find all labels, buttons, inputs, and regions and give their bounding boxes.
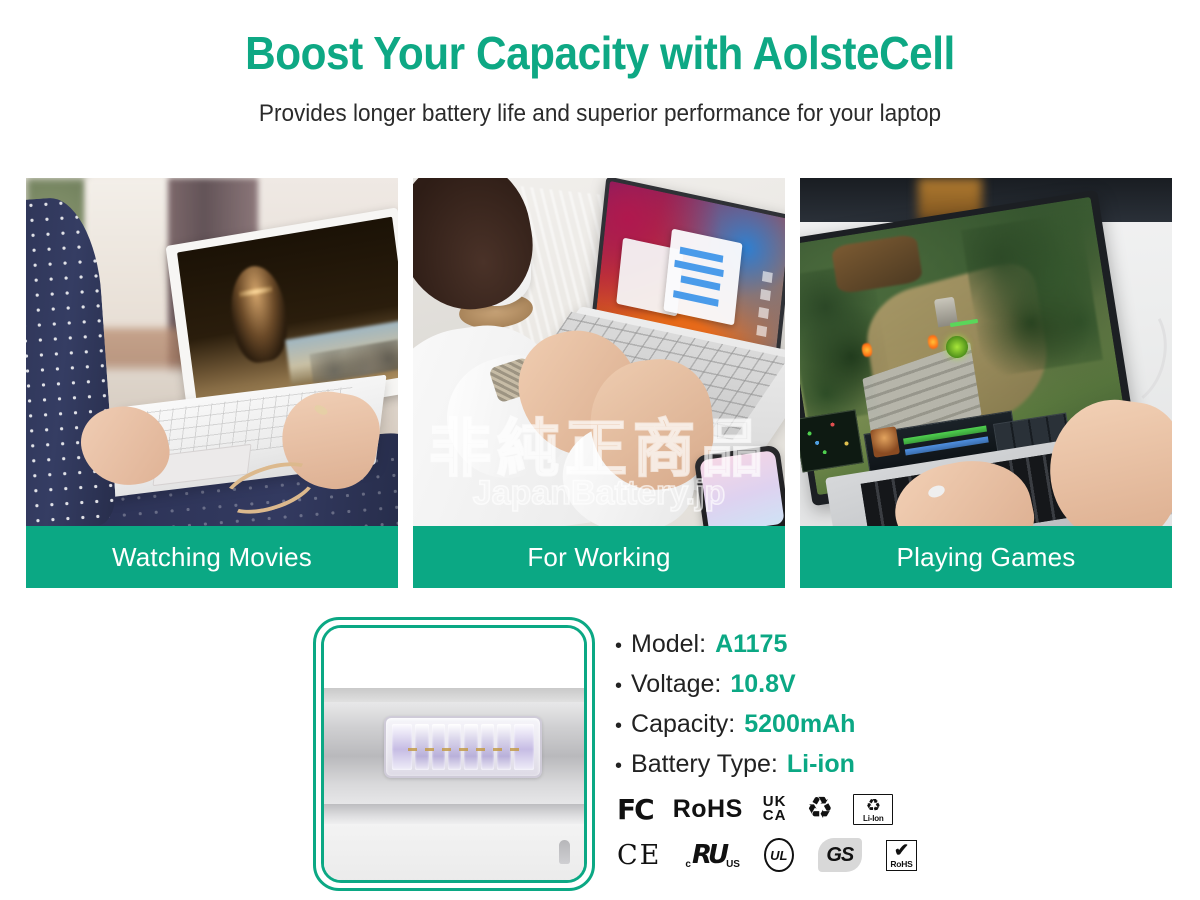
cruus-icon: c RU US [685,840,740,870]
rohs-checkmark-glyph: ✔ [887,842,916,859]
cruus-mark: RU [692,840,725,870]
ukca-line2: CA [763,809,787,823]
spec-label: Voltage: [631,670,721,699]
liion-recycle-label: Li-Ion [854,814,892,823]
bullet-icon: • [615,636,622,656]
recycle-icon: ♻ [806,794,833,824]
spec-value: 5200mAh [744,710,855,739]
photo-watching-movies [26,178,398,526]
certification-badges: FC RoHS UK CA ♻ ♻ Li-Ion CE c RU US UL G… [617,786,917,878]
liion-recycle-glyph: ♻ [854,797,892,814]
use-case-panel-for-working[interactable]: 非純正商品 JapanBattery.jp For Working [413,178,785,588]
photo-playing-games [800,178,1172,526]
ukca-icon: UK CA [763,795,787,823]
gs-icon: GS [818,838,862,872]
spec-label: Capacity: [631,710,735,739]
panel-caption: Watching Movies [26,526,398,588]
use-case-panels: Watching Movies [26,178,1172,588]
page-title: Boost Your Capacity with AolsteCell [48,26,1152,80]
spec-value: A1175 [715,630,787,659]
spec-list: • Model: A1175 • Voltage: 10.8V • Capaci… [615,630,1135,790]
photo-for-working: 非純正商品 JapanBattery.jp [413,178,785,526]
liion-recycle-icon: ♻ Li-Ion [853,794,893,825]
certification-row-2: CE c RU US UL GS ✔ RoHS [617,832,917,878]
page-subtitle: Provides longer battery life and superio… [36,100,1164,128]
ce-icon: CE [617,840,661,871]
spec-row-voltage: • Voltage: 10.8V [615,670,1135,699]
spec-label: Model: [631,630,706,659]
product-image-frame [313,617,595,891]
bullet-icon: • [615,756,622,776]
spec-value: Li-ion [787,750,855,779]
fcc-icon: FC [617,793,653,826]
rohs-icon: RoHS [673,795,743,824]
battery-pins [392,724,534,770]
product-image-inner-border [321,625,587,883]
panel-caption: Playing Games [800,526,1172,588]
use-case-panel-playing-games[interactable]: Playing Games [800,178,1172,588]
panel-caption: For Working [413,526,785,588]
product-banner: Boost Your Capacity with AolsteCell Prov… [0,0,1200,900]
spec-row-battery-type: • Battery Type: Li-ion [615,750,1135,779]
ul-icon: UL [764,838,794,872]
bullet-icon: • [615,716,622,736]
bullet-icon: • [615,676,622,696]
rohs-check-icon: ✔ RoHS [886,840,917,871]
spec-value: 10.8V [730,670,795,699]
certification-row-1: FC RoHS UK CA ♻ ♻ Li-Ion [617,786,917,832]
spec-row-capacity: • Capacity: 5200mAh [615,710,1135,739]
rohs-check-label: RoHS [887,859,916,869]
cruus-suffix: US [726,859,740,870]
cruus-prefix: c [685,859,691,870]
spec-label: Battery Type: [631,750,778,779]
spec-row-model: • Model: A1175 [615,630,1135,659]
battery-connector-photo [324,628,584,880]
use-case-panel-watching-movies[interactable]: Watching Movies [26,178,398,588]
